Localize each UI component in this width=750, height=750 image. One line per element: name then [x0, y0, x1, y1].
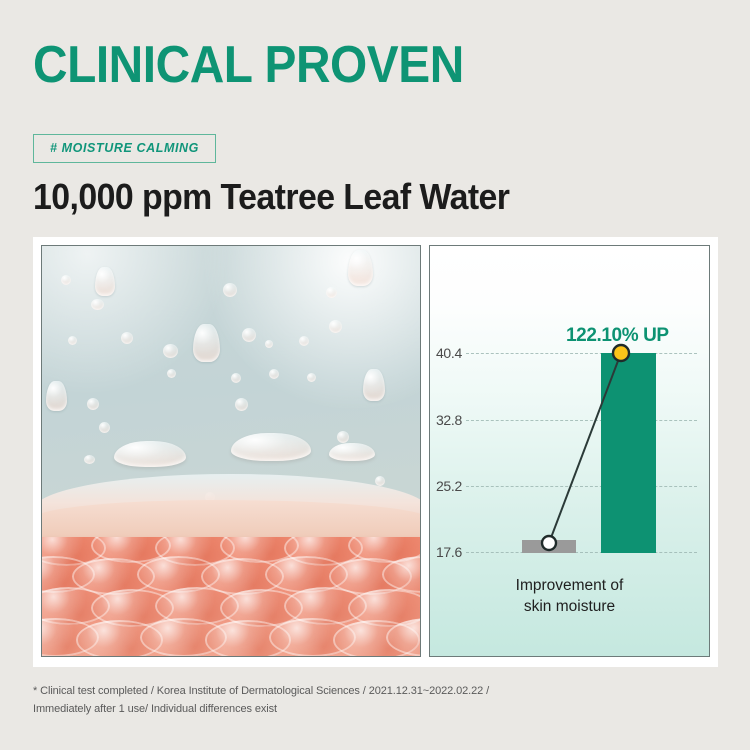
photo-cell-layer	[42, 537, 420, 656]
marker-after	[613, 345, 629, 361]
bubble-icon	[337, 431, 349, 443]
bubble-icon	[326, 287, 337, 298]
bubble-icon	[84, 455, 95, 464]
water-drop-icon	[348, 250, 373, 286]
moisture-improvement-chart: 40.4 32.8 25.2 17.6 122.10% UP Improveme…	[429, 245, 710, 657]
surface-droplet-icon	[329, 443, 375, 461]
footnote-line-2: Immediately after 1 use/ Individual diff…	[33, 700, 593, 718]
bubble-icon	[99, 422, 110, 433]
uplift-annotation: 122.10% UP	[566, 325, 669, 347]
chart-caption-line-2: skin moisture	[430, 597, 709, 618]
bubble-icon	[87, 398, 99, 410]
water-drop-icon	[193, 324, 220, 362]
bubble-icon	[167, 369, 176, 378]
surface-droplet-icon	[231, 433, 311, 461]
chart-caption: Improvement of skin moisture	[430, 576, 709, 618]
footnote: * Clinical test completed / Korea Instit…	[33, 682, 593, 718]
bubble-icon	[375, 476, 385, 486]
page-title: CLINICAL PROVEN	[33, 38, 464, 93]
marker-before	[542, 536, 556, 550]
bubble-icon	[269, 369, 279, 379]
bubble-icon	[61, 275, 71, 285]
bubble-icon	[307, 373, 316, 382]
bubble-icon	[235, 398, 248, 411]
chart-caption-line-1: Improvement of	[430, 576, 709, 597]
surface-droplet-icon	[114, 441, 186, 467]
status-badge: # MOISTURE CALMING	[33, 134, 216, 163]
water-drop-icon	[46, 381, 67, 411]
water-drop-icon	[363, 369, 385, 401]
water-drop-icon	[95, 267, 115, 296]
footnote-line-1: * Clinical test completed / Korea Instit…	[33, 682, 593, 700]
page-subtitle: 10,000 ppm Teatree Leaf Water	[33, 176, 509, 218]
content-card: 40.4 32.8 25.2 17.6 122.10% UP Improveme…	[33, 237, 718, 667]
product-illustration-image	[41, 245, 421, 657]
bubble-icon	[329, 320, 342, 333]
